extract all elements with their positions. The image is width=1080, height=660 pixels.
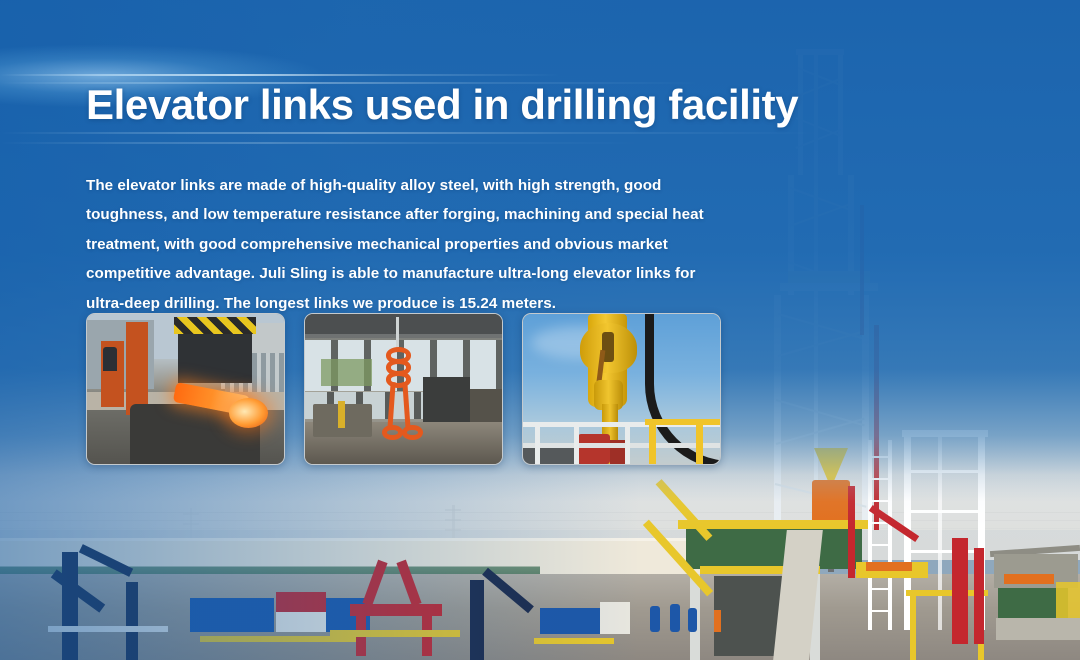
thumbnail-workshop-links[interactable] (304, 313, 503, 465)
thumbnail-rig-hook[interactable] (522, 313, 721, 465)
banner-content: Elevator links used in drilling facility… (0, 0, 1080, 660)
elevator-links-banner: Elevator links used in drilling facility… (0, 0, 1080, 660)
thumbnail-forging-press[interactable] (86, 313, 285, 465)
description-paragraph: The elevator links are made of high-qual… (86, 171, 711, 318)
page-title: Elevator links used in drilling facility (86, 81, 798, 129)
thumbnail-gallery (86, 313, 721, 465)
